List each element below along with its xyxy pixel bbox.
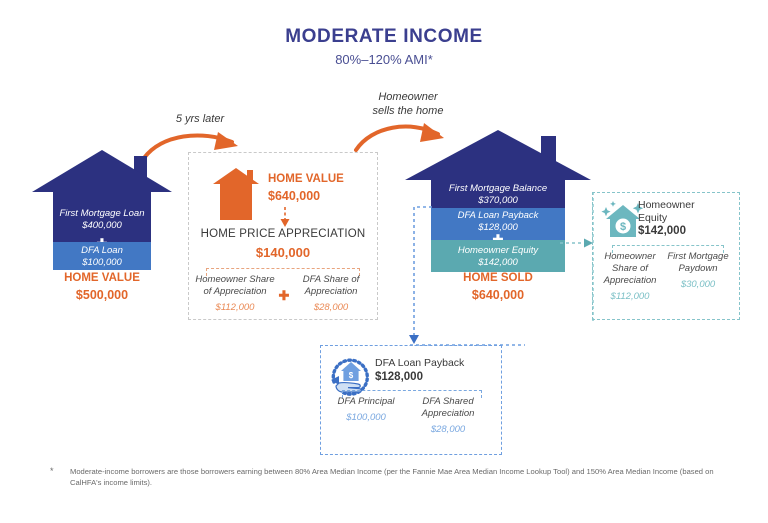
connector-homeowner-equity [560,237,596,249]
split-value-homeowner-share: $112,000 [192,302,278,313]
footnote-text: Moderate-income borrowers are those borr… [70,466,730,488]
dfa-split-value-shared-appreciation: $28,000 [408,424,488,435]
home-price-appreciation-label: HOME PRICE APPRECIATION [190,228,376,240]
page-subtitle: 80%–120% AMI* [0,52,768,67]
band-value-first-mortgage-loan: $400,000 [53,220,151,232]
caption-label-home-value: HOME VALUE [32,272,172,284]
dfa-split-shared-appreciation: DFA Shared Appreciation $28,000 [408,396,488,435]
infographic-canvas: MODERATE INCOME 80%–120% AMI* 5 yrs late… [0,0,768,523]
equity-split-homeowner-share: Homeowner Share of Appreciation $112,000 [596,251,664,302]
split-label-homeowner-share: Homeowner Share of Appreciation [192,274,278,298]
down-arrow-icon [278,207,292,229]
house-value-icon [213,168,259,220]
band-label-dfa-loan: DFA Loan [53,242,151,257]
page-title: MODERATE INCOME [0,26,768,48]
roof-icon [213,168,259,184]
dfa-split-label-principal: DFA Principal [326,396,406,408]
equity-panel-title: Homeowner Equity [638,199,734,225]
home-price-appreciation-amount: $140,000 [190,245,376,260]
equity-split-first-mortgage-paydown: First Mortgage Paydown $30,000 [664,251,732,290]
equity-split-label-homeowner-share: Homeowner Share of Appreciation [596,251,664,287]
arrow-label-sells-home-line2: sells the home [348,104,468,118]
house-body-icon [220,184,252,220]
svg-text:$: $ [620,221,626,233]
arrow-label-five-years: 5 yrs later [145,113,255,125]
band-label-first-mortgage-loan: First Mortgage Loan [53,192,151,220]
equity-title-line2: Equity [638,212,734,225]
house-body-dfa-loan: DFA Loan $100,000 [53,242,151,270]
equity-split-value-homeowner-share: $112,000 [596,291,664,302]
roof-icon [405,130,591,180]
roof-icon [32,150,172,192]
split-label-dfa-share: DFA Share of Appreciation [288,274,374,298]
split-value-dfa-share: $28,000 [288,302,374,313]
dfa-panel-title: DFA Loan Payback [375,357,495,369]
band-value-dfa-loan: $100,000 [53,257,151,269]
equity-panel-value: $142,000 [638,225,734,237]
connector-dfa-payback [406,205,456,355]
home-value-amount: $640,000 [268,189,378,203]
dfa-split-value-principal: $100,000 [326,412,406,423]
dfa-split-principal: DFA Principal $100,000 [326,396,406,423]
dfa-split-label-shared-appreciation: DFA Shared Appreciation [408,396,488,420]
equity-title-line1: Homeowner [638,199,734,212]
appreciation-split-homeowner: Homeowner Share of Appreciation $112,000 [192,274,278,313]
equity-split-label-first-mortgage-paydown: First Mortgage Paydown [664,251,732,275]
band-label-first-mortgage-balance: First Mortgage Balance [431,180,565,195]
house-start-icon: First Mortgage Loan $400,000 ✚ DFA Loan … [32,150,172,270]
dfa-panel-value: $128,000 [375,371,495,383]
svg-text:$: $ [349,371,354,380]
arrow-label-sells-home: Homeowner sells the home [348,90,468,118]
footnote-marker: * [50,466,54,476]
appreciation-split-dfa: DFA Share of Appreciation $28,000 [288,274,374,313]
caption-value-home-value: $500,000 [32,288,172,302]
arrow-label-sells-home-line1: Homeowner [348,90,468,104]
equity-split-value-first-mortgage-paydown: $30,000 [664,279,732,290]
home-value-label: HOME VALUE [268,173,378,185]
